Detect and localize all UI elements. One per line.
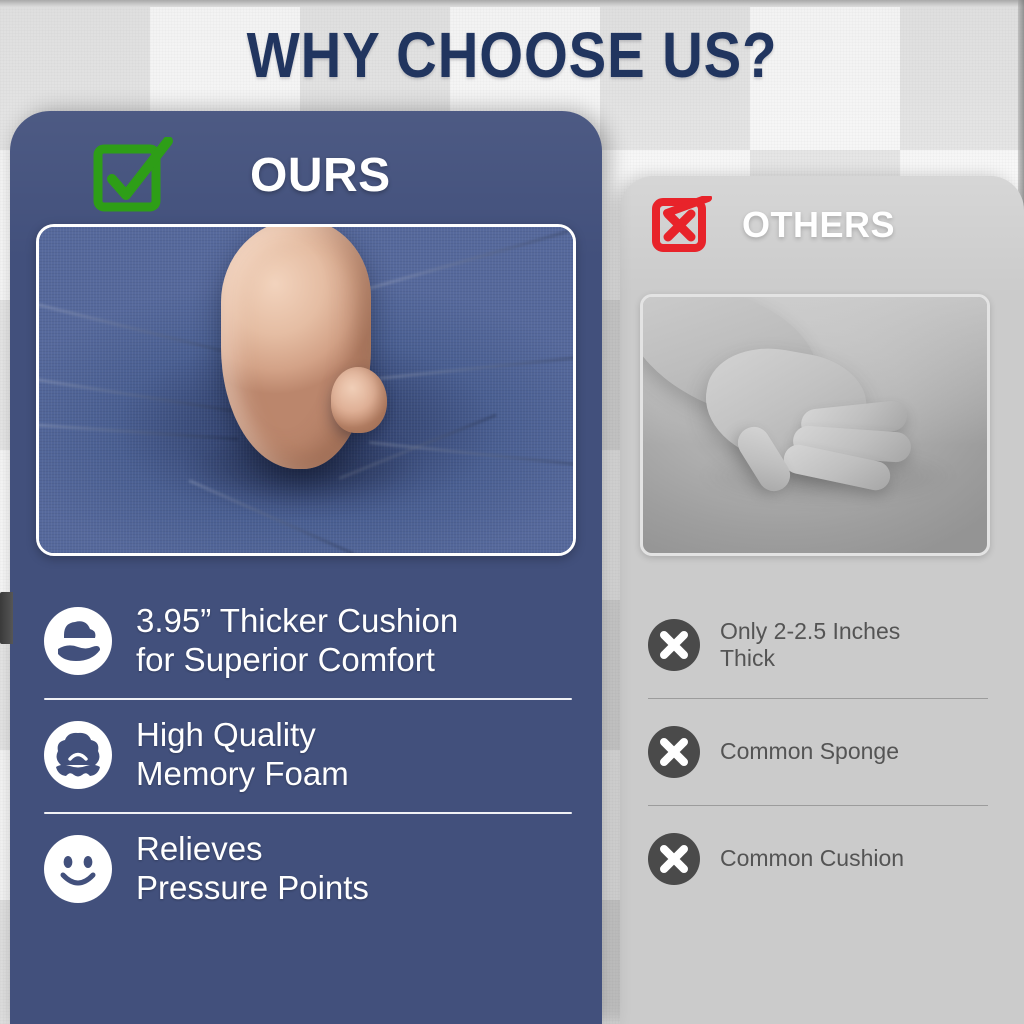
circle-x-icon xyxy=(646,724,702,780)
why-choose-us-comparison-poster: WHY CHOOSE US? OTHERS xyxy=(0,0,1024,1024)
ours-feature-line: Memory Foam xyxy=(136,755,349,794)
others-photo-inner xyxy=(643,297,987,553)
ours-feature-text: 3.95” Thicker Cushion for Superior Comfo… xyxy=(136,602,458,680)
ours-header: OURS xyxy=(92,137,391,213)
page-title: WHY CHOOSE US? xyxy=(61,18,962,92)
left-edge-tab xyxy=(0,592,13,644)
others-feature-list: Only 2‑2.5 Inches Thick Common Sponge Co… xyxy=(646,592,994,912)
circle-x-icon xyxy=(646,617,702,673)
ours-photo xyxy=(36,224,576,556)
ours-feature-list: 3.95” Thicker Cushion for Superior Comfo… xyxy=(42,586,576,924)
others-feature-line: Thick xyxy=(720,645,900,672)
circle-x-icon xyxy=(646,831,702,887)
others-feature-text: Only 2‑2.5 Inches Thick xyxy=(720,618,900,672)
ours-header-label: OURS xyxy=(250,148,391,203)
memory-foam-cushion-icon xyxy=(42,719,114,791)
background-top-edge-bar xyxy=(0,0,1024,7)
smiley-face-icon xyxy=(42,833,114,905)
others-feature-row: Only 2‑2.5 Inches Thick xyxy=(646,592,994,698)
others-feature-text: Common Sponge xyxy=(720,738,899,765)
hand-holding-cushion-icon xyxy=(42,605,114,677)
others-photo xyxy=(640,294,990,556)
knuckle-shape xyxy=(331,367,387,433)
others-feature-line: Only 2‑2.5 Inches xyxy=(720,618,900,645)
ours-feature-line: High Quality xyxy=(136,716,349,755)
ours-feature-text: High Quality Memory Foam xyxy=(136,716,349,794)
others-feature-line: Common Cushion xyxy=(720,845,904,872)
others-feature-row: Common Sponge xyxy=(646,699,994,805)
ours-feature-line: Pressure Points xyxy=(136,869,369,908)
others-feature-line: Common Sponge xyxy=(720,738,899,765)
ours-feature-row: 3.95” Thicker Cushion for Superior Comfo… xyxy=(42,586,576,696)
ours-feature-row: High Quality Memory Foam xyxy=(42,700,576,810)
others-feature-row: Common Cushion xyxy=(646,806,994,912)
ours-feature-line: 3.95” Thicker Cushion xyxy=(136,602,458,641)
checkbox-cross-icon xyxy=(650,196,712,254)
ours-photo-inner xyxy=(39,227,573,553)
fist-shape xyxy=(221,224,371,469)
others-header: OTHERS xyxy=(650,196,895,254)
ours-feature-row: Relieves Pressure Points xyxy=(42,814,576,924)
others-header-label: OTHERS xyxy=(742,204,895,246)
checkbox-check-icon xyxy=(92,137,174,213)
others-feature-text: Common Cushion xyxy=(720,845,904,872)
ours-feature-line: for Superior Comfort xyxy=(136,641,458,680)
ours-feature-line: Relieves xyxy=(136,830,369,869)
ours-feature-text: Relieves Pressure Points xyxy=(136,830,369,908)
